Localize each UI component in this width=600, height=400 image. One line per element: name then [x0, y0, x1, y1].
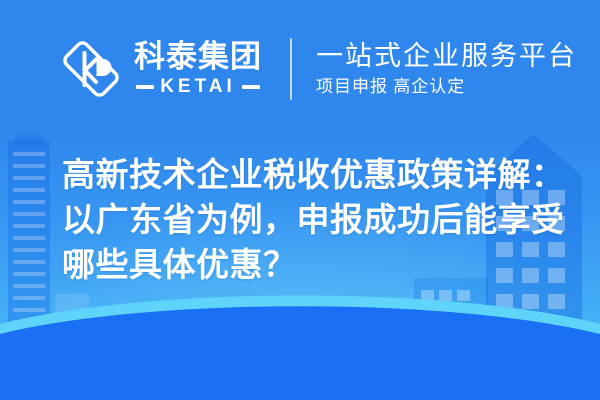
banner-header: 科泰集团 KETAI 一站式企业服务平台 项目申报 高企认定 — [0, 0, 600, 140]
page-title: 高新技术企业税收优惠政策详解： 以广东省为例，申报成功后能享受 哪些具体优惠？ — [62, 152, 558, 287]
banner-root: 科泰集团 KETAI 一站式企业服务平台 项目申报 高企认定 高新技术企业税收优… — [0, 0, 600, 400]
logo-dash-right-icon — [242, 85, 260, 89]
logo-dash-left-icon — [136, 85, 154, 89]
header-content: 科泰集团 KETAI 一站式企业服务平台 项目申报 高企认定 — [62, 38, 577, 100]
title-line-3: 哪些具体优惠？ — [62, 242, 558, 287]
title-line-1: 高新技术企业税收优惠政策详解： — [62, 152, 558, 197]
logo-en-row: KETAI — [136, 76, 260, 98]
title-line-2: 以广东省为例，申报成功后能享受 — [62, 197, 558, 242]
header-tagline: 一站式企业服务平台 项目申报 高企认定 — [316, 40, 577, 99]
tagline-main: 一站式企业服务平台 — [316, 40, 577, 72]
tagline-sub: 项目申报 高企认定 — [316, 75, 577, 99]
logo-wordmark: 科泰集团 KETAI — [134, 40, 262, 98]
header-divider — [290, 38, 292, 100]
kp-diamond-logo-icon — [62, 40, 120, 98]
bottom-wave-decoration — [0, 280, 600, 400]
logo-company-name-en: KETAI — [160, 76, 236, 98]
logo-company-name-cn: 科泰集团 — [134, 40, 262, 74]
